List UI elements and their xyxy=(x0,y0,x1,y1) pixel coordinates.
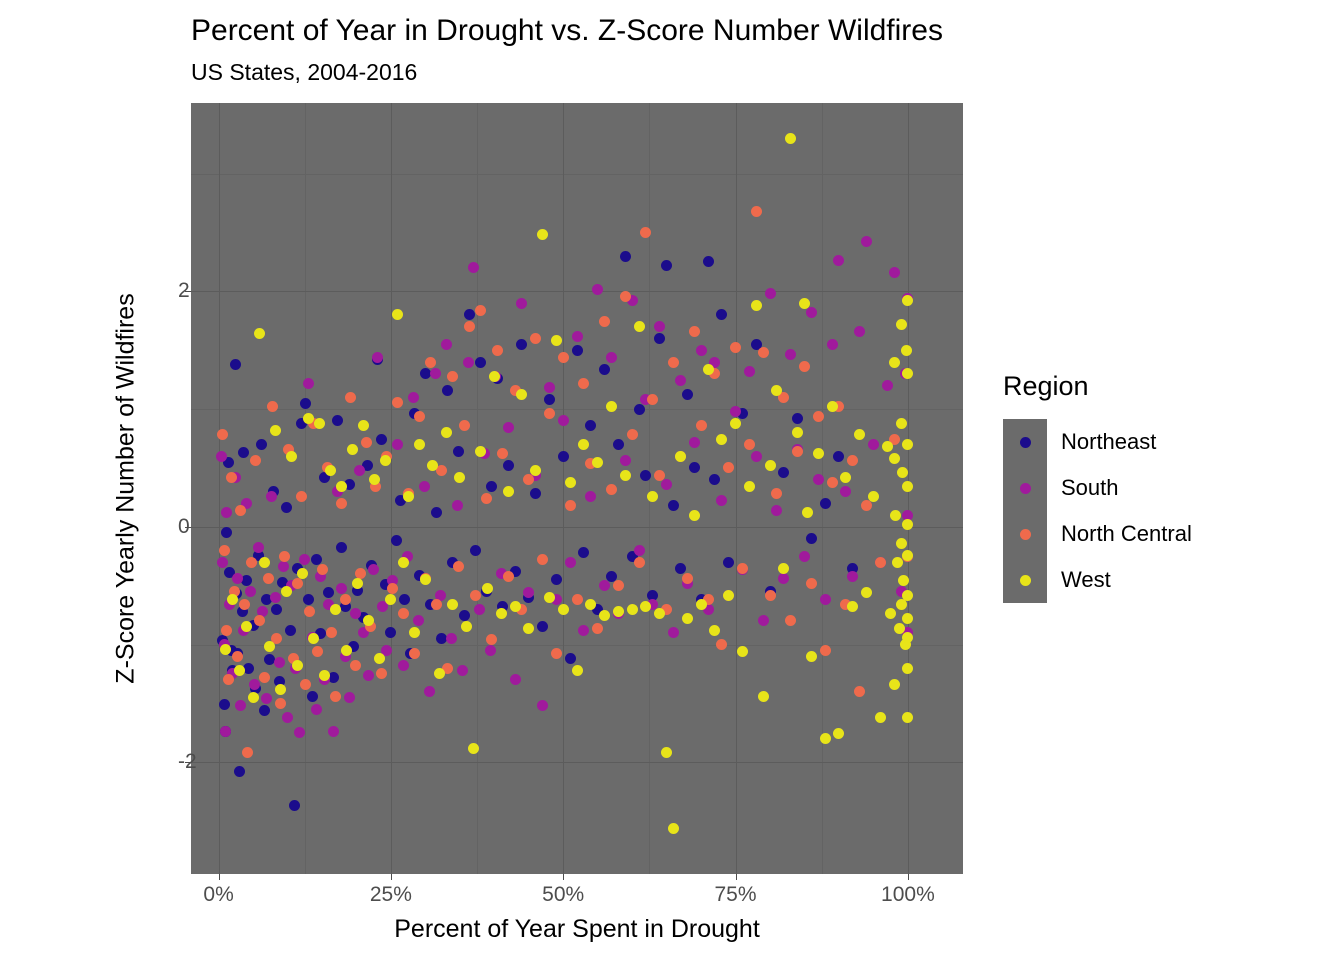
scatter-point xyxy=(303,594,314,605)
scatter-point xyxy=(620,455,631,466)
scatter-point xyxy=(703,256,714,267)
scatter-point xyxy=(537,554,548,565)
scatter-point xyxy=(464,309,475,320)
scatter-point xyxy=(627,604,638,615)
scatter-point xyxy=(902,550,913,561)
scatter-point xyxy=(875,557,886,568)
scatter-point xyxy=(328,726,339,737)
scatter-point xyxy=(661,747,672,758)
scatter-point xyxy=(303,378,314,389)
scatter-point xyxy=(220,644,231,655)
scatter-point xyxy=(901,345,912,356)
scatter-point xyxy=(572,345,583,356)
scatter-point xyxy=(442,385,453,396)
scatter-point xyxy=(299,554,310,565)
scatter-point xyxy=(376,434,387,445)
scatter-point xyxy=(861,587,872,598)
scatter-point xyxy=(896,418,907,429)
scatter-point xyxy=(585,420,596,431)
scatter-point xyxy=(376,668,387,679)
scatter-point xyxy=(345,392,356,403)
scatter-point xyxy=(311,704,322,715)
scatter-point xyxy=(219,699,230,710)
scatter-point xyxy=(578,547,589,558)
scatter-point xyxy=(889,679,900,690)
scatter-point xyxy=(785,349,796,360)
scatter-point xyxy=(330,604,341,615)
legend-key-swatch xyxy=(1003,511,1047,557)
scatter-point xyxy=(369,474,380,485)
scatter-point xyxy=(751,300,762,311)
gridline-major-vertical xyxy=(736,103,737,874)
scatter-point xyxy=(340,594,351,605)
scatter-point xyxy=(537,700,548,711)
scatter-point xyxy=(219,545,230,556)
scatter-point xyxy=(230,359,241,370)
legend-key-swatch xyxy=(1003,557,1047,603)
scatter-point xyxy=(413,615,424,626)
legend-item-south[interactable]: South xyxy=(1003,465,1218,511)
scatter-point xyxy=(530,488,541,499)
scatter-point xyxy=(454,472,465,483)
scatter-point xyxy=(765,288,776,299)
legend-item-northeast[interactable]: Northeast xyxy=(1003,419,1218,465)
gridline-major-vertical xyxy=(219,103,220,874)
x-tick-mark xyxy=(736,874,737,880)
scatter-point xyxy=(785,133,796,144)
scatter-point xyxy=(675,563,686,574)
scatter-point xyxy=(259,557,270,568)
scatter-point xyxy=(902,712,913,723)
scatter-point xyxy=(827,401,838,412)
scatter-point xyxy=(250,455,261,466)
scatter-point xyxy=(516,389,527,400)
scatter-point xyxy=(282,712,293,723)
scatter-point xyxy=(537,229,548,240)
scatter-point xyxy=(806,651,817,662)
scatter-point xyxy=(217,429,228,440)
scatter-point xyxy=(281,586,292,597)
scatter-point xyxy=(613,580,624,591)
scatter-point xyxy=(689,462,700,473)
scatter-point xyxy=(392,397,403,408)
x-tick-mark xyxy=(219,874,220,880)
scatter-point xyxy=(347,444,358,455)
scatter-point xyxy=(689,510,700,521)
scatter-point xyxy=(256,439,267,450)
gridline-major-horizontal xyxy=(191,527,963,528)
scatter-point xyxy=(833,728,844,739)
scatter-point xyxy=(510,674,521,685)
scatter-point xyxy=(436,465,447,476)
scatter-point xyxy=(861,236,872,247)
scatter-point xyxy=(744,366,755,377)
scatter-point xyxy=(599,316,610,327)
scatter-point xyxy=(307,691,318,702)
scatter-point xyxy=(868,439,879,450)
scatter-point xyxy=(336,481,347,492)
scatter-point xyxy=(523,474,534,485)
scatter-point xyxy=(709,474,720,485)
scatter-point xyxy=(599,364,610,375)
scatter-point xyxy=(385,627,396,638)
scatter-point xyxy=(716,495,727,506)
scatter-point xyxy=(220,726,231,737)
scatter-point xyxy=(314,418,325,429)
scatter-point xyxy=(820,645,831,656)
scatter-point xyxy=(319,670,330,681)
scatter-point xyxy=(470,590,481,601)
scatter-point xyxy=(558,352,569,363)
scatter-point xyxy=(544,382,555,393)
scatter-point xyxy=(572,665,583,676)
scatter-point xyxy=(744,439,755,450)
scatter-point xyxy=(279,551,290,562)
scatter-point xyxy=(896,538,907,549)
scatter-point xyxy=(226,472,237,483)
scatter-point xyxy=(475,357,486,368)
legend-point-icon xyxy=(1020,483,1031,494)
scatter-point xyxy=(813,474,824,485)
scatter-point xyxy=(304,606,315,617)
scatter-point xyxy=(271,604,282,615)
scatter-point xyxy=(689,437,700,448)
gridline-major-horizontal xyxy=(191,762,963,763)
scatter-point xyxy=(882,441,893,452)
scatter-point xyxy=(332,415,343,426)
legend-point-icon xyxy=(1020,575,1031,586)
scatter-point xyxy=(675,375,686,386)
scatter-point xyxy=(751,206,762,217)
scatter-point xyxy=(246,557,257,568)
scatter-point xyxy=(452,500,463,511)
scatter-point xyxy=(344,692,355,703)
scatter-point xyxy=(778,467,789,478)
scatter-point xyxy=(854,429,865,440)
scatter-point xyxy=(235,700,246,711)
scatter-point xyxy=(503,460,514,471)
scatter-point xyxy=(259,705,270,716)
scatter-point xyxy=(551,335,562,346)
scatter-point xyxy=(668,357,679,368)
scatter-point xyxy=(274,657,285,668)
scatter-point xyxy=(398,557,409,568)
scatter-point xyxy=(565,653,576,664)
scatter-point xyxy=(374,653,385,664)
scatter-point xyxy=(716,639,727,650)
scatter-point xyxy=(503,486,514,497)
scatter-point xyxy=(523,623,534,634)
scatter-point xyxy=(387,583,398,594)
scatter-point xyxy=(827,339,838,350)
scatter-point xyxy=(232,651,243,662)
legend-item-north-central[interactable]: North Central xyxy=(1003,511,1218,557)
scatter-point xyxy=(286,451,297,462)
scatter-point xyxy=(882,380,893,391)
gridline-minor-vertical xyxy=(305,103,306,874)
scatter-point xyxy=(709,625,720,636)
scatter-point xyxy=(902,632,913,643)
gridline-minor-vertical xyxy=(822,103,823,874)
scatter-point xyxy=(627,429,638,440)
scatter-point xyxy=(723,557,734,568)
scatter-point xyxy=(235,505,246,516)
scatter-point xyxy=(896,599,907,610)
scatter-point xyxy=(544,592,555,603)
scatter-point xyxy=(592,623,603,634)
x-axis-title: Percent of Year Spent in Drought xyxy=(191,915,963,944)
scatter-point xyxy=(234,665,245,676)
scatter-point xyxy=(799,551,810,562)
scatter-point xyxy=(227,594,238,605)
scatter-point xyxy=(820,733,831,744)
x-tick-label: 50% xyxy=(542,883,584,907)
scatter-point xyxy=(380,455,391,466)
gridline-major-vertical xyxy=(563,103,564,874)
scatter-point xyxy=(317,564,328,575)
scatter-point xyxy=(503,422,514,433)
scatter-point xyxy=(885,608,896,619)
scatter-point xyxy=(326,627,337,638)
scatter-point xyxy=(654,333,665,344)
scatter-point xyxy=(254,615,265,626)
scatter-point xyxy=(668,627,679,638)
scatter-point xyxy=(634,557,645,568)
scatter-point xyxy=(431,599,442,610)
scatter-point xyxy=(799,361,810,372)
scatter-point xyxy=(223,674,234,685)
scatter-point xyxy=(261,693,272,704)
scatter-point xyxy=(792,446,803,457)
scatter-point xyxy=(530,333,541,344)
scatter-point xyxy=(778,573,789,584)
scatter-point xyxy=(558,415,569,426)
scatter-point xyxy=(297,568,308,579)
scatter-point xyxy=(475,446,486,457)
scatter-point xyxy=(716,434,727,445)
scatter-point xyxy=(292,660,303,671)
x-tick-label: 75% xyxy=(714,883,756,907)
scatter-point xyxy=(565,557,576,568)
scatter-point xyxy=(558,451,569,462)
legend-item-west[interactable]: West xyxy=(1003,557,1218,603)
scatter-point xyxy=(238,447,249,458)
scatter-point xyxy=(516,298,527,309)
scatter-point xyxy=(221,527,232,538)
scatter-point xyxy=(363,670,374,681)
scatter-point xyxy=(551,574,562,585)
scatter-point xyxy=(217,557,228,568)
scatter-point xyxy=(792,413,803,424)
scatter-point xyxy=(806,307,817,318)
scatter-point xyxy=(497,448,508,459)
scatter-point xyxy=(243,663,254,674)
scatter-point xyxy=(654,321,665,332)
scatter-point xyxy=(457,665,468,676)
scatter-point xyxy=(578,378,589,389)
scatter-point xyxy=(312,646,323,657)
scatter-point xyxy=(453,446,464,457)
scatter-point xyxy=(459,420,470,431)
scatter-point xyxy=(668,823,679,834)
scatter-point xyxy=(599,580,610,591)
scatter-point xyxy=(510,601,521,612)
scatter-point xyxy=(481,493,492,504)
scatter-point xyxy=(419,481,430,492)
plot-panel xyxy=(191,103,963,874)
scatter-point xyxy=(902,663,913,674)
scatter-point xyxy=(894,623,905,634)
legend-point-icon xyxy=(1020,529,1031,540)
scatter-point xyxy=(248,692,259,703)
scatter-point xyxy=(447,371,458,382)
scatter-point xyxy=(668,500,679,511)
scatter-point xyxy=(468,743,479,754)
scatter-point xyxy=(434,668,445,679)
scatter-point xyxy=(613,439,624,450)
scatter-point xyxy=(358,420,369,431)
scatter-point xyxy=(399,594,410,605)
scatter-point xyxy=(647,491,658,502)
scatter-point xyxy=(634,404,645,415)
scatter-point xyxy=(461,621,472,632)
scatter-point xyxy=(330,691,341,702)
scatter-point xyxy=(578,625,589,636)
scatter-point xyxy=(833,451,844,462)
scatter-point xyxy=(654,470,665,481)
scatter-point xyxy=(430,368,441,379)
scatter-point xyxy=(902,368,913,379)
scatter-point xyxy=(474,604,485,615)
scatter-point xyxy=(254,328,265,339)
scatter-point xyxy=(300,398,311,409)
scatter-point xyxy=(245,586,256,597)
scatter-point xyxy=(392,309,403,320)
scatter-point xyxy=(758,691,769,702)
x-tick-mark xyxy=(563,874,564,880)
scatter-point xyxy=(682,389,693,400)
scatter-point xyxy=(620,470,631,481)
scatter-point xyxy=(840,472,851,483)
scatter-point xyxy=(771,505,782,516)
scatter-point xyxy=(336,542,347,553)
scatter-point xyxy=(847,455,858,466)
scatter-point xyxy=(285,625,296,636)
scatter-point xyxy=(751,451,762,462)
scatter-point xyxy=(737,646,748,657)
scatter-point xyxy=(350,608,361,619)
scatter-point xyxy=(682,613,693,624)
scatter-point xyxy=(744,481,755,492)
scatter-point xyxy=(296,491,307,502)
scatter-point xyxy=(572,594,583,605)
scatter-point xyxy=(216,451,227,462)
scatter-point xyxy=(516,339,527,350)
scatter-point xyxy=(464,321,475,332)
scatter-point xyxy=(441,427,452,438)
scatter-point xyxy=(730,418,741,429)
y-axis-title: Z-Score Yearly Number of Wildfires xyxy=(112,103,141,875)
scatter-point xyxy=(716,309,727,320)
scatter-point xyxy=(634,545,645,556)
scatter-point xyxy=(599,610,610,621)
scatter-point xyxy=(241,621,252,632)
scatter-point xyxy=(758,347,769,358)
scatter-point xyxy=(427,460,438,471)
scatter-point xyxy=(620,291,631,302)
scatter-point xyxy=(889,357,900,368)
scatter-point xyxy=(496,608,507,619)
scatter-point xyxy=(640,470,651,481)
scatter-point xyxy=(503,571,514,582)
scatter-point xyxy=(249,679,260,690)
legend-key-swatch xyxy=(1003,419,1047,465)
scatter-point xyxy=(270,425,281,436)
scatter-point xyxy=(486,481,497,492)
scatter-point xyxy=(336,583,347,594)
scatter-point xyxy=(414,411,425,422)
scatter-point xyxy=(453,561,464,572)
scatter-point xyxy=(696,599,707,610)
scatter-point xyxy=(875,712,886,723)
scatter-point xyxy=(868,491,879,502)
scatter-point xyxy=(820,594,831,605)
scatter-point xyxy=(234,766,245,777)
scatter-point xyxy=(323,587,334,598)
scatter-point xyxy=(820,498,831,509)
gridline-minor-horizontal xyxy=(191,409,963,410)
scatter-point xyxy=(765,590,776,601)
scatter-point xyxy=(420,574,431,585)
scatter-point xyxy=(723,590,734,601)
scatter-point xyxy=(303,413,314,424)
scatter-point xyxy=(414,439,425,450)
scatter-point xyxy=(572,331,583,342)
scatter-point xyxy=(482,583,493,594)
scatter-point xyxy=(606,352,617,363)
scatter-point xyxy=(661,479,672,490)
legend-label: North Central xyxy=(1061,521,1192,547)
scatter-point xyxy=(806,578,817,589)
scatter-point xyxy=(792,427,803,438)
scatter-point xyxy=(275,684,286,695)
scatter-point xyxy=(661,260,672,271)
scatter-point xyxy=(537,621,548,632)
scatter-point xyxy=(840,486,851,497)
scatter-point xyxy=(847,601,858,612)
scatter-point xyxy=(889,267,900,278)
scatter-point xyxy=(802,507,813,518)
scatter-point xyxy=(703,364,714,375)
scatter-point xyxy=(278,561,289,572)
x-tick-label: 25% xyxy=(370,883,412,907)
x-tick-label: 100% xyxy=(881,883,935,907)
scatter-point xyxy=(259,672,270,683)
scatter-point xyxy=(723,462,734,473)
scatter-point xyxy=(682,573,693,584)
scatter-point xyxy=(221,625,232,636)
scatter-point xyxy=(264,641,275,652)
gridline-major-horizontal xyxy=(191,291,963,292)
scatter-point xyxy=(897,467,908,478)
scatter-point xyxy=(275,698,286,709)
scatter-point xyxy=(578,439,589,450)
scatter-point xyxy=(409,648,420,659)
gridline-minor-vertical xyxy=(649,103,650,874)
legend-key-swatch xyxy=(1003,465,1047,511)
scatter-point xyxy=(613,606,624,617)
scatter-point xyxy=(565,477,576,488)
